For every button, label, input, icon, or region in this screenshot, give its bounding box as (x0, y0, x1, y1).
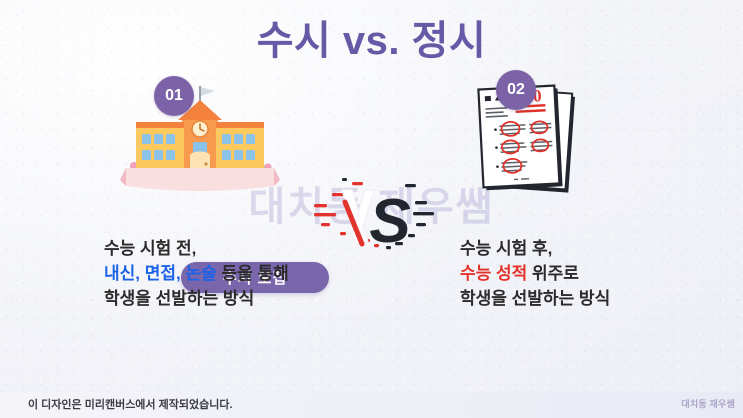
vs-graphic: S (312, 176, 438, 256)
jeongsi-description: 수능 시험 후, 수능 성적 위주로 학생을 선발하는 방식 (400, 236, 700, 311)
footer-brand-text: 대치동 재우쌤 (681, 397, 735, 410)
badge-01: 01 (154, 76, 194, 116)
jeongsi-highlight: 수능 성적 (460, 264, 527, 283)
page-title: 수시 vs. 정시 (0, 8, 743, 66)
susi-line-2-rest: 등을 통해 (217, 264, 289, 283)
jeongsi-line-3: 학생을 선발하는 방식 (460, 286, 700, 311)
jeongsi-line-2: 수능 성적 위주로 (460, 261, 700, 286)
badge-02: 02 (496, 70, 536, 110)
vs-letter-s: S (369, 187, 410, 256)
ribbon-banner (120, 166, 280, 191)
susi-highlight: 내신, 면접, 논술 (104, 264, 217, 283)
column-susi: 01 수시 모집 (50, 70, 350, 195)
slide-canvas: 대치동 재우쌤 수시 vs. 정시 (0, 0, 743, 418)
school-building-icon (120, 82, 280, 194)
susi-line-3: 학생을 선발하는 방식 (104, 286, 360, 311)
jeongsi-line-1: 수능 시험 후, (460, 236, 700, 261)
susi-line-2: 내신, 면접, 논술 등을 통해 (104, 261, 360, 286)
jeongsi-line-2-rest: 위주로 (527, 264, 579, 283)
susi-illustration-area: 01 (50, 70, 350, 195)
footer-credit-text: 이 디자인은 미리캔버스에서 제작되었습니다. (28, 396, 233, 412)
